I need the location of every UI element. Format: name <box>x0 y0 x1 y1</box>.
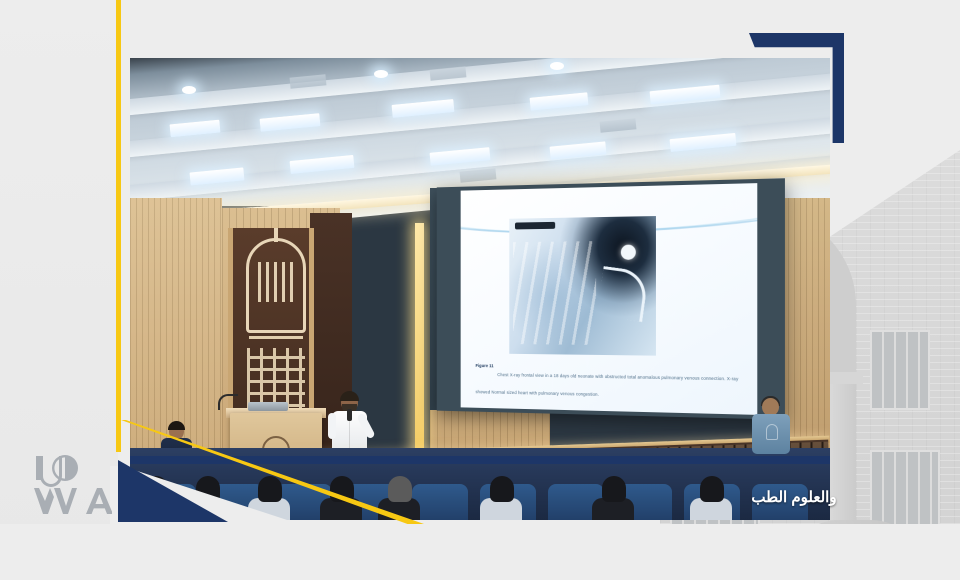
bottom-margin-strip <box>0 524 960 580</box>
ceiling-vent <box>600 118 637 132</box>
xray-bright-dot <box>621 245 636 260</box>
arabic-watermark: والعلوم الطب <box>748 486 840 508</box>
audience-head <box>490 476 514 502</box>
xray-tube-marker <box>515 222 555 230</box>
chest-xray-image <box>509 216 656 356</box>
ceiling-spotlight <box>182 86 196 94</box>
xray-catheter-line <box>597 266 649 322</box>
event-photo: Figure 11 Chest X-ray frontal view in a … <box>130 58 830 520</box>
presenter-arm-left <box>328 413 336 439</box>
attendee-shirt-emblem-icon <box>766 424 778 440</box>
assistant-hair <box>168 421 185 430</box>
handheld-microphone-icon <box>347 409 352 421</box>
uowa-logo <box>32 452 112 518</box>
presenter-hair <box>340 391 359 401</box>
slide-caption-text: Chest X-ray frontal view in a 18 days ol… <box>475 372 738 397</box>
ceiling-spotlight <box>374 70 388 78</box>
slide-caption: Figure 11 Chest X-ray frontal view in a … <box>475 363 742 404</box>
audience-seat <box>412 484 468 520</box>
audience-head <box>388 476 412 502</box>
wall-glow-strip <box>415 223 424 485</box>
gold-accent-line-vertical <box>116 0 121 452</box>
poster-canvas: Figure 11 Chest X-ray frontal view in a … <box>0 0 960 580</box>
lectern-laptop <box>248 402 288 411</box>
audience-head <box>602 476 626 502</box>
panel-divider <box>249 336 303 339</box>
ceiling-vent <box>460 168 497 182</box>
arabic-calligraphy <box>255 262 297 302</box>
audience-head <box>258 476 282 502</box>
projection-slide: Figure 11 Chest X-ray frontal view in a … <box>461 183 758 415</box>
slide-caption-label: Figure 11 <box>475 363 493 369</box>
xray-ribs <box>513 241 596 345</box>
ceiling-spotlight <box>550 62 564 70</box>
campus-window <box>870 330 930 410</box>
projection-screen-frame: Figure 11 Chest X-ray frontal view in a … <box>437 178 785 419</box>
lectern-microphone-icon <box>218 394 238 410</box>
audience-head <box>700 476 724 502</box>
